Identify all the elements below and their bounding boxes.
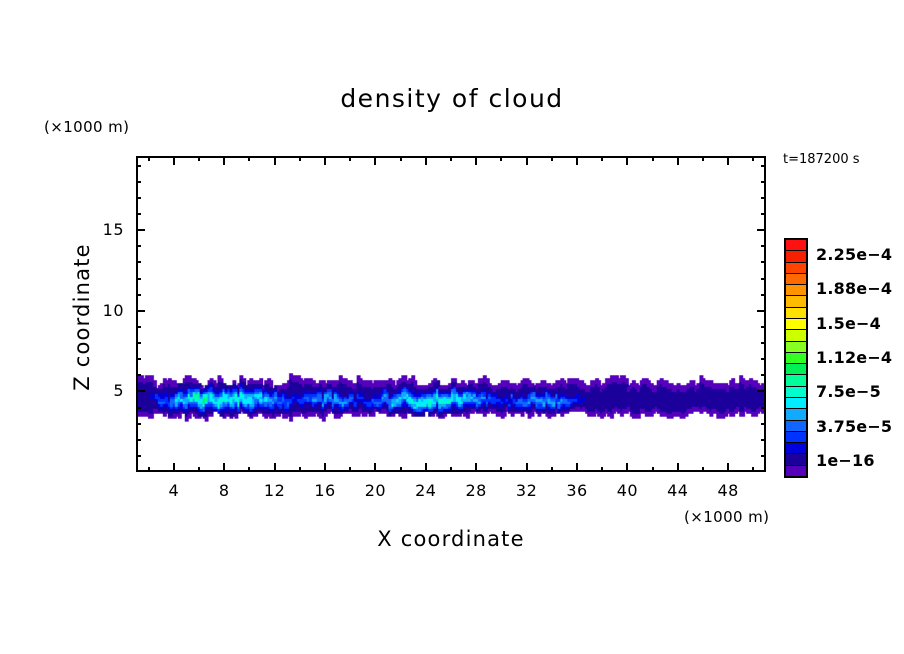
x-tick-minor <box>349 156 351 161</box>
plot-area <box>136 156 766 472</box>
y-tick-minor <box>136 213 141 215</box>
y-tick-major <box>136 229 145 231</box>
x-tick-major <box>626 463 628 472</box>
y-axis-unit-label: (×1000 m) <box>44 118 129 136</box>
y-tick-minor <box>761 245 766 247</box>
x-tick-minor <box>198 156 200 161</box>
y-tick-minor <box>761 278 766 280</box>
y-tick-minor <box>136 197 141 199</box>
x-tick-minor <box>299 467 301 472</box>
x-tick-minor <box>450 467 452 472</box>
colorbar-band <box>786 375 806 386</box>
time-annotation: t=187200 s <box>783 152 860 167</box>
x-tick-major <box>727 463 729 472</box>
x-axis-unit-label: (×1000 m) <box>684 508 769 526</box>
x-tick-major <box>274 463 276 472</box>
x-tick-minor <box>551 467 553 472</box>
x-tick-major <box>727 156 729 165</box>
x-tick-minor <box>450 156 452 161</box>
y-tick-minor <box>136 423 141 425</box>
colorbar-band <box>786 342 806 353</box>
x-tick-label: 44 <box>658 481 698 500</box>
y-tick-minor <box>136 245 141 247</box>
colorbar-tick-label: 1e−16 <box>816 451 875 470</box>
x-tick-label: 16 <box>305 481 345 500</box>
x-tick-label: 24 <box>406 481 446 500</box>
y-tick-minor <box>136 326 141 328</box>
y-tick-minor <box>761 165 766 167</box>
x-tick-minor <box>752 467 754 472</box>
x-tick-major <box>626 156 628 165</box>
x-tick-major <box>677 463 679 472</box>
y-tick-label: 15 <box>84 220 124 239</box>
x-tick-minor <box>500 467 502 472</box>
x-tick-major <box>526 156 528 165</box>
x-tick-minor <box>551 156 553 161</box>
x-tick-minor <box>652 467 654 472</box>
x-tick-label: 40 <box>607 481 647 500</box>
x-tick-major <box>223 463 225 472</box>
x-tick-major <box>475 156 477 165</box>
y-tick-label: 5 <box>84 381 124 400</box>
y-tick-minor <box>136 165 141 167</box>
x-tick-minor <box>652 156 654 161</box>
colorbar-band <box>786 274 806 285</box>
y-tick-major <box>757 310 766 312</box>
y-tick-minor <box>136 342 141 344</box>
y-tick-major <box>136 310 145 312</box>
y-tick-minor <box>761 197 766 199</box>
colorbar-tick-label: 2.25e−4 <box>816 245 892 264</box>
colorbar-band <box>786 432 806 443</box>
y-tick-minor <box>136 439 141 441</box>
x-tick-label: 8 <box>204 481 244 500</box>
y-tick-minor <box>761 342 766 344</box>
x-tick-major <box>173 156 175 165</box>
colorbar-band <box>786 387 806 398</box>
colorbar-band <box>786 319 806 330</box>
y-tick-minor <box>761 358 766 360</box>
x-tick-major <box>173 463 175 472</box>
x-tick-label: 28 <box>456 481 496 500</box>
x-tick-minor <box>349 467 351 472</box>
x-tick-major <box>576 156 578 165</box>
x-tick-major <box>425 463 427 472</box>
colorbar-band <box>786 421 806 432</box>
x-tick-major <box>324 156 326 165</box>
x-tick-major <box>223 156 225 165</box>
x-tick-label: 20 <box>355 481 395 500</box>
x-tick-major <box>576 463 578 472</box>
y-tick-minor <box>761 326 766 328</box>
colorbar-tick-label: 3.75e−5 <box>816 417 892 436</box>
y-tick-minor <box>761 213 766 215</box>
y-tick-minor <box>136 407 141 409</box>
x-tick-minor <box>702 156 704 161</box>
x-tick-label: 48 <box>708 481 748 500</box>
colorbar-band <box>786 308 806 319</box>
colorbar-band <box>786 454 806 465</box>
y-tick-minor <box>761 261 766 263</box>
colorbar-tick-label: 1.12e−4 <box>816 348 892 367</box>
page-title: density of cloud <box>0 84 904 113</box>
x-tick-label: 4 <box>154 481 194 500</box>
x-tick-minor <box>601 467 603 472</box>
colorbar-tick-label: 1.5e−4 <box>816 314 881 333</box>
x-tick-minor <box>601 156 603 161</box>
y-tick-minor <box>136 181 141 183</box>
y-tick-minor <box>761 455 766 457</box>
x-tick-major <box>475 463 477 472</box>
colorbar-band <box>786 285 806 296</box>
y-tick-major <box>757 390 766 392</box>
y-tick-minor <box>136 261 141 263</box>
colorbar-band <box>786 398 806 409</box>
x-tick-minor <box>198 467 200 472</box>
y-tick-minor <box>761 294 766 296</box>
colorbar-band <box>786 353 806 364</box>
colorbar-band <box>786 263 806 274</box>
x-tick-label: 32 <box>507 481 547 500</box>
colorbar-bands <box>784 238 808 478</box>
y-tick-minor <box>136 278 141 280</box>
y-tick-label: 10 <box>84 301 124 320</box>
colorbar-band <box>786 409 806 420</box>
x-tick-label: 12 <box>255 481 295 500</box>
figure-canvas: density of cloud (×1000 m) (×1000 m) X c… <box>0 0 904 654</box>
y-tick-minor <box>761 407 766 409</box>
x-tick-minor <box>299 156 301 161</box>
x-tick-major <box>425 156 427 165</box>
x-axis-title: X coordinate <box>136 527 766 551</box>
colorbar-band <box>786 443 806 454</box>
x-tick-major <box>374 463 376 472</box>
colorbar-band <box>786 364 806 375</box>
y-tick-minor <box>761 439 766 441</box>
colorbar-tick-label: 1.88e−4 <box>816 279 892 298</box>
x-tick-minor <box>400 156 402 161</box>
colorbar-tick-label: 7.5e−5 <box>816 382 881 401</box>
x-tick-minor <box>400 467 402 472</box>
x-tick-major <box>324 463 326 472</box>
x-tick-minor <box>148 156 150 161</box>
x-tick-minor <box>500 156 502 161</box>
x-tick-minor <box>752 156 754 161</box>
x-tick-major <box>374 156 376 165</box>
y-tick-minor <box>761 181 766 183</box>
x-tick-major <box>526 463 528 472</box>
colorbar-band <box>786 466 806 476</box>
colorbar: 2.25e−41.88e−41.5e−41.12e−47.5e−53.75e−5… <box>782 200 902 490</box>
y-tick-major <box>136 390 145 392</box>
y-tick-minor <box>761 423 766 425</box>
colorbar-band <box>786 296 806 307</box>
x-tick-minor <box>248 156 250 161</box>
density-field-heatmap <box>138 158 764 470</box>
x-tick-label: 36 <box>557 481 597 500</box>
x-tick-minor <box>148 467 150 472</box>
colorbar-band <box>786 330 806 341</box>
y-tick-major <box>757 229 766 231</box>
x-tick-major <box>677 156 679 165</box>
y-tick-minor <box>136 294 141 296</box>
x-tick-major <box>274 156 276 165</box>
colorbar-band <box>786 251 806 262</box>
y-tick-minor <box>136 455 141 457</box>
y-tick-minor <box>136 358 141 360</box>
y-tick-minor <box>136 374 141 376</box>
x-tick-minor <box>702 467 704 472</box>
x-tick-minor <box>248 467 250 472</box>
y-tick-minor <box>761 374 766 376</box>
colorbar-band <box>786 240 806 251</box>
